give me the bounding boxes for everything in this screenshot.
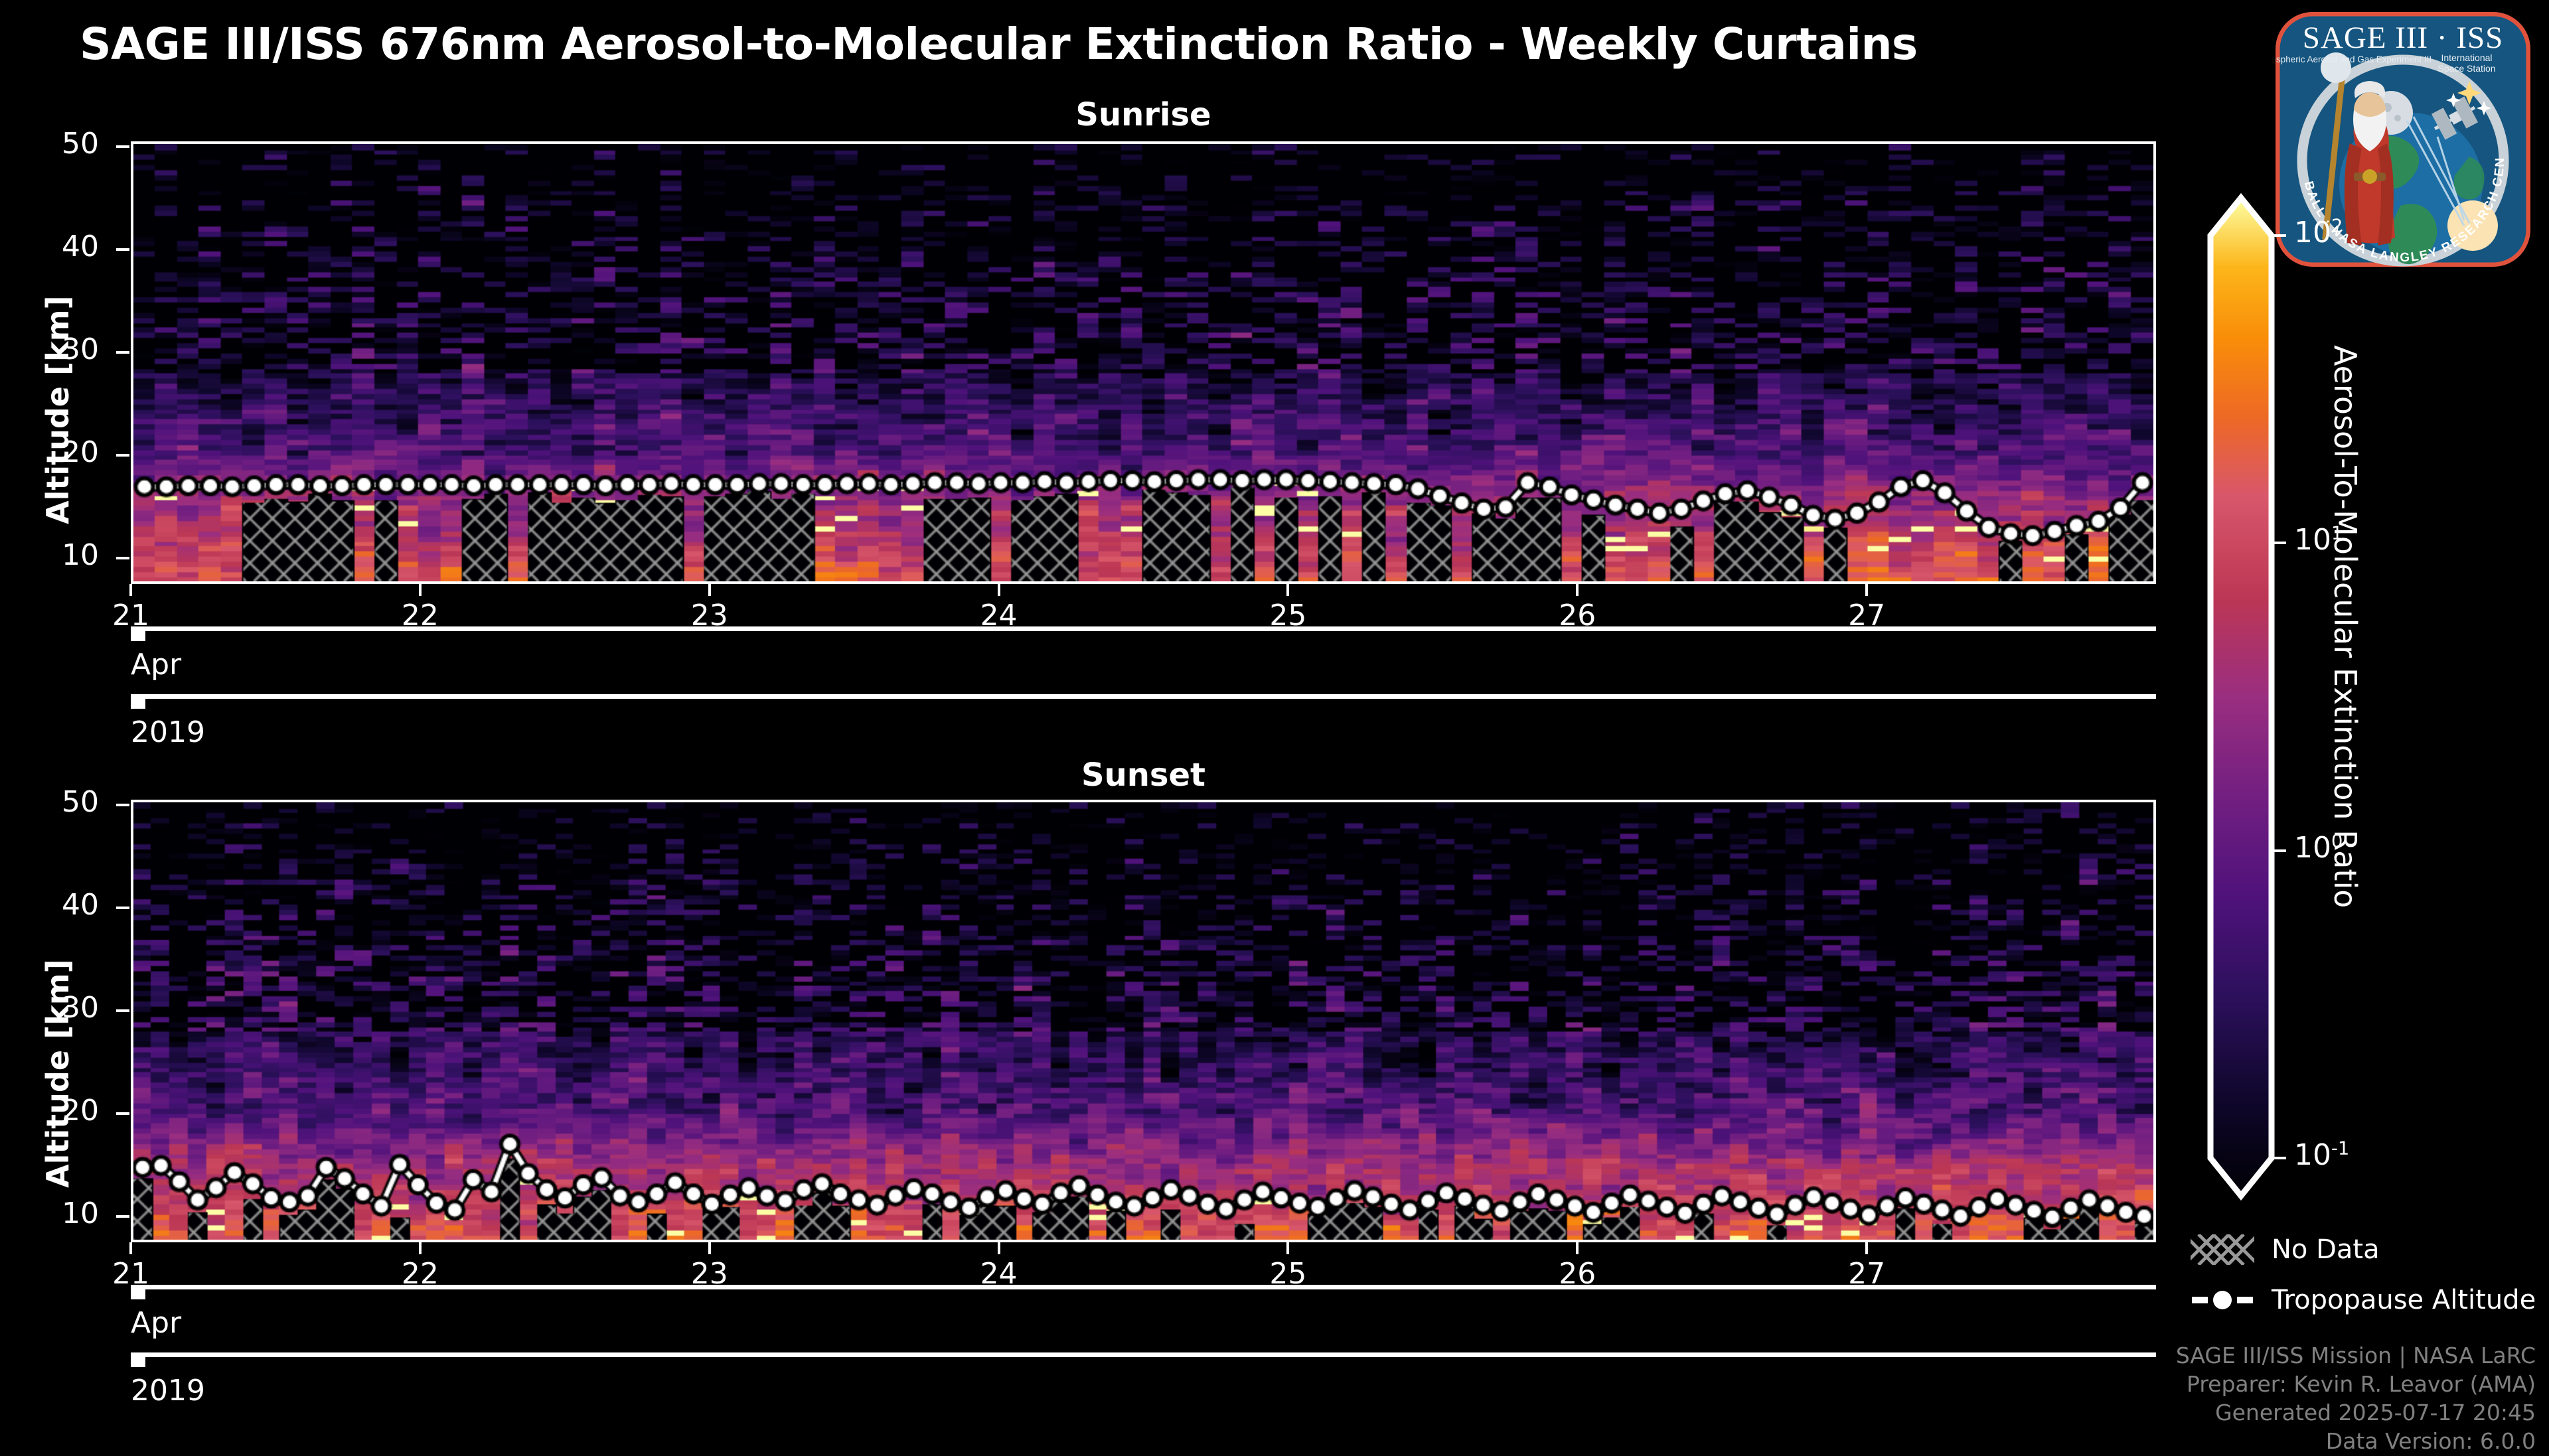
x-axis-month-label-sunrise: Apr — [131, 648, 181, 682]
x-tick-mark-sunrise-22 — [419, 584, 422, 596]
mission-patch-icon: BALL · NASA LANGLEY RESEARCH CENTER · TA… — [2270, 7, 2536, 272]
x-tick-mark-sunrise-21 — [129, 584, 132, 596]
panel-title-sunrise: Sunrise — [131, 96, 2156, 133]
y-tick-mark-sunrise-50 — [116, 145, 129, 148]
svg-text:Stratospheric Aerosol and Gas: Stratospheric Aerosol and Gas Experiment… — [2270, 54, 2432, 64]
colorbar[interactable] — [2205, 192, 2285, 1201]
x-axis-year-nub-sunrise — [131, 694, 145, 709]
y-tick-label-sunset-40: 40 — [19, 888, 99, 922]
legend-item-no-data: No Data — [2191, 1234, 2536, 1265]
legend-item-tropopause: Tropopause Altitude — [2191, 1285, 2536, 1315]
x-tick-mark-sunrise-25 — [1286, 584, 1289, 596]
y-tick-label-sunrise-10: 10 — [19, 538, 99, 572]
y-tick-mark-sunset-40 — [116, 907, 129, 909]
x-axis-month-nub-sunset — [131, 1285, 145, 1299]
x-tick-mark-sunrise-27 — [1865, 584, 1868, 596]
y-tick-mark-sunrise-20 — [116, 454, 129, 457]
colorbar-svg — [2205, 192, 2285, 1201]
x-axis-year-bar-sunrise — [131, 694, 2156, 699]
y-tick-mark-sunset-30 — [116, 1009, 129, 1012]
heatmap-canvas-sunset — [133, 802, 2153, 1240]
sage-iii-iss-logo: BALL · NASA LANGLEY RESEARCH CENTER · TA… — [2270, 7, 2536, 272]
tropopause-line-icon — [2191, 1285, 2254, 1315]
y-axis-label-text-sunrise: Altitude [km] — [40, 295, 76, 524]
x-tick-mark-sunset-22 — [419, 1242, 422, 1254]
heatmap-sunrise[interactable] — [131, 141, 2156, 584]
heatmap-sunset[interactable] — [131, 800, 2156, 1242]
y-axis-label-text-sunset: Altitude [km] — [40, 959, 76, 1188]
svg-text:Space Station: Space Station — [2437, 63, 2495, 74]
legend-label-tropopause: Tropopause Altitude — [2272, 1285, 2536, 1315]
no-data-hatch-icon — [2191, 1234, 2254, 1265]
x-axis-month-bar-sunset — [131, 1285, 2156, 1289]
x-tick-mark-sunrise-24 — [998, 584, 1000, 596]
colorbar-tick-label-3: 10-1 — [2294, 1138, 2349, 1172]
colorbar-title: Aerosol-To-Molecular Extinction Ratio — [2327, 345, 2363, 908]
y-tick-label-sunrise-40: 40 — [19, 230, 99, 263]
y-tick-label-sunrise-50: 50 — [19, 127, 99, 161]
heatmap-canvas-sunrise — [133, 144, 2153, 581]
x-tick-mark-sunset-23 — [708, 1242, 711, 1254]
x-axis-year-nub-sunset — [131, 1352, 145, 1367]
x-axis-month-nub-sunrise — [131, 626, 145, 641]
x-axis-year-label-sunset: 2019 — [131, 1374, 205, 1408]
x-axis-year-label-sunrise: 2019 — [131, 715, 205, 749]
page-title: SAGE III/ISS 676nm Aerosol-to-Molecular … — [80, 19, 2204, 70]
y-tick-mark-sunrise-40 — [116, 248, 129, 251]
legend: No Data Tropopause Altitude — [2191, 1234, 2536, 1315]
x-tick-mark-sunset-26 — [1576, 1242, 1579, 1254]
y-axis-label-sunset: Altitude [km] — [40, 959, 76, 1188]
panel-title-sunset: Sunset — [131, 757, 2156, 794]
y-tick-mark-sunrise-30 — [116, 351, 129, 354]
x-tick-mark-sunrise-23 — [708, 584, 711, 596]
svg-text:SAGE III · ISS: SAGE III · ISS — [2303, 21, 2504, 55]
y-tick-mark-sunset-10 — [116, 1215, 129, 1218]
legend-label-no-data: No Data — [2272, 1234, 2380, 1265]
y-tick-label-sunset-10: 10 — [19, 1197, 99, 1230]
x-tick-mark-sunset-24 — [998, 1242, 1000, 1254]
y-tick-mark-sunrise-10 — [116, 557, 129, 559]
x-tick-mark-sunset-21 — [129, 1242, 132, 1254]
x-tick-mark-sunset-25 — [1286, 1242, 1289, 1254]
x-axis-month-bar-sunrise — [131, 626, 2156, 631]
svg-text:International: International — [2441, 52, 2492, 63]
y-tick-label-sunset-50: 50 — [19, 785, 99, 819]
footer-credits: SAGE III/ISS Mission | NASA LaRC Prepare… — [1752, 1342, 2536, 1456]
x-tick-mark-sunset-27 — [1865, 1242, 1868, 1254]
y-tick-mark-sunset-20 — [116, 1112, 129, 1115]
x-tick-mark-sunrise-26 — [1576, 584, 1579, 596]
y-tick-mark-sunset-50 — [116, 804, 129, 806]
y-axis-label-sunrise: Altitude [km] — [40, 295, 76, 524]
x-axis-month-label-sunset: Apr — [131, 1306, 181, 1340]
colorbar-gradient — [2210, 198, 2272, 1196]
